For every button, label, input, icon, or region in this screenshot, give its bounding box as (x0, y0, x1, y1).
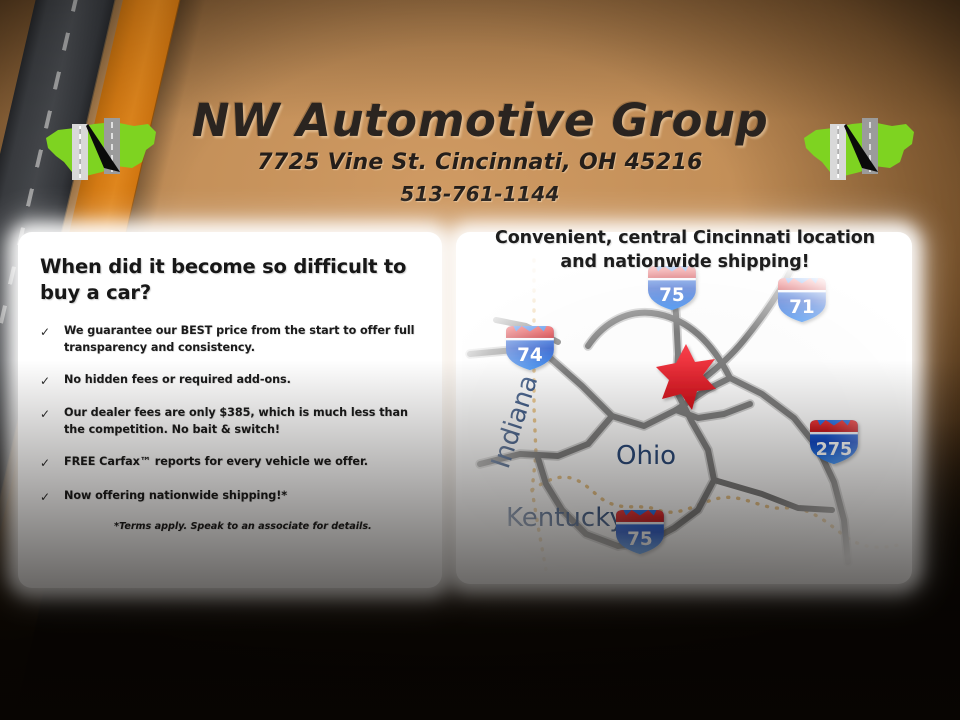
benefits-list: ✓ We guarantee our BEST price from the s… (40, 323, 422, 505)
shield-number: 75 (659, 285, 685, 306)
map-heading-line-1: Convenient, central Cincinnati location (495, 228, 875, 248)
checkmark-icon: ✓ (40, 488, 64, 506)
state-label-ohio: Ohio (616, 441, 676, 471)
checkmark-icon: ✓ (40, 454, 64, 472)
checkmark-icon: ✓ (40, 323, 64, 341)
panel-heading: When did it become so difficult to buy a… (40, 254, 422, 305)
list-item: ✓ Our dealer fees are only $385, which i… (40, 405, 422, 437)
dealership-phone: 513-761-1144 (0, 182, 960, 206)
list-item-label: Our dealer fees are only $385, which is … (64, 405, 422, 437)
state-label-kentucky: Kentucky (506, 503, 625, 533)
page-title: NW Automotive Group (0, 98, 960, 144)
list-item: ✓ Now offering nationwide shipping!* (40, 488, 422, 506)
list-item-label: We guarantee our BEST price from the sta… (64, 323, 422, 355)
interstate-shield-275: 275 (810, 420, 858, 464)
list-item-label: FREE Carfax™ reports for every vehicle w… (64, 454, 422, 470)
list-item-label: Now offering nationwide shipping!* (64, 488, 422, 504)
shield-number: 75 (627, 529, 653, 550)
list-item: ✓ No hidden fees or required add-ons. (40, 372, 422, 390)
checkmark-icon: ✓ (40, 372, 64, 390)
list-item-label: No hidden fees or required add-ons. (64, 372, 422, 388)
map-heading-line-2: and nationwide shipping! (470, 250, 900, 274)
dealership-header: NW Automotive Group 7725 Vine St. Cincin… (0, 98, 960, 206)
shield-number: 275 (816, 440, 852, 460)
map-heading: Convenient, central Cincinnati location … (470, 226, 900, 274)
shield-number: 74 (517, 345, 543, 366)
cincinnati-region-map: Indiana Ohio Kentucky 74 (462, 258, 906, 578)
value-proposition-panel: When did it become so difficult to buy a… (18, 232, 442, 588)
list-item: ✓ We guarantee our BEST price from the s… (40, 323, 422, 355)
list-item: ✓ FREE Carfax™ reports for every vehicle… (40, 454, 422, 472)
checkmark-icon: ✓ (40, 405, 64, 423)
terms-footnote: *Terms apply. Speak to an associate for … (114, 521, 422, 532)
dealership-address: 7725 Vine St. Cincinnati, OH 45216 (0, 150, 960, 175)
slide-canvas: NW Automotive Group 7725 Vine St. Cincin… (0, 0, 960, 720)
shield-number: 71 (789, 297, 815, 318)
